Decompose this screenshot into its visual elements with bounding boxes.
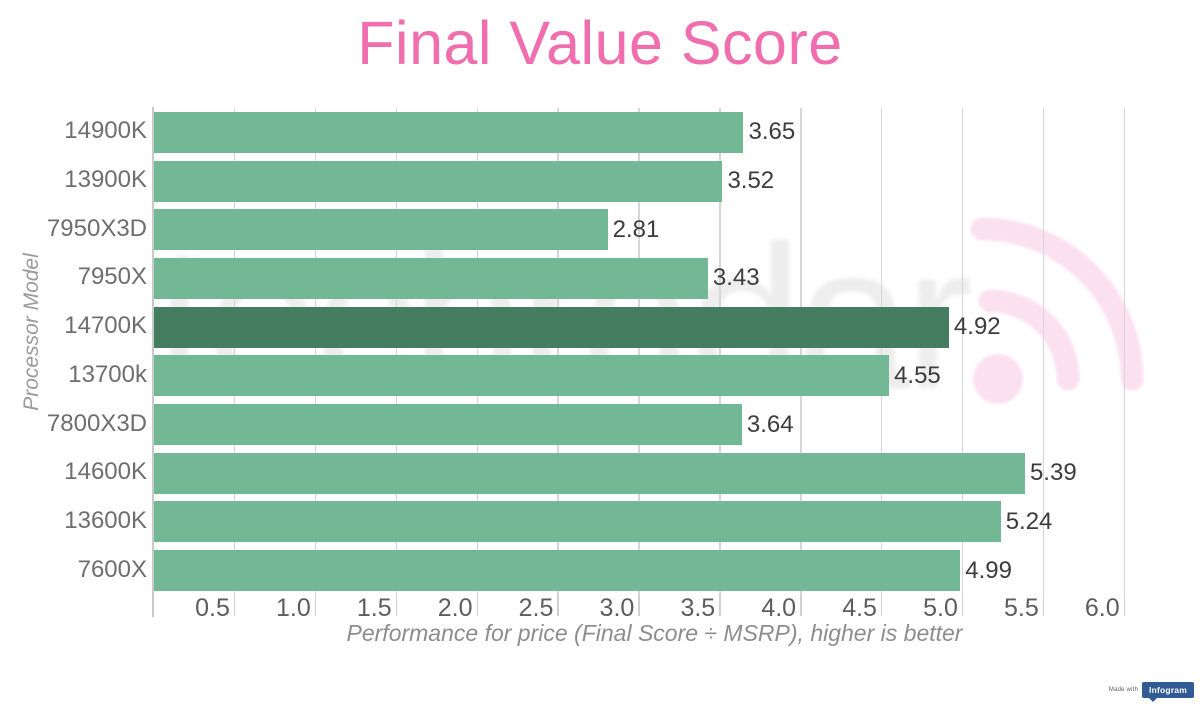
x-axis-tick [962,595,964,616]
x-axis-tick-label: 3.0 [564,594,634,623]
y-axis-line [152,107,154,617]
bar-row[interactable] [153,501,1001,542]
y-axis-category-label: 13900K [0,166,147,194]
y-axis-category-label: 14900K [0,117,147,145]
bar-value-label: 5.24 [1006,508,1053,536]
x-axis-tick [234,595,236,616]
y-axis-category-label: 7800X3D [0,410,147,438]
infogram-credit-badge[interactable]: Made with Infogram [1109,682,1194,698]
x-axis-tick [1043,595,1045,616]
bar-row[interactable] [153,307,949,348]
x-axis-tick-label: 0.5 [160,594,230,623]
y-axis-category-label: 14600K [0,458,147,486]
bar[interactable] [153,112,743,153]
bar-value-label: 4.99 [965,557,1012,585]
y-axis-category-label: 7950X3D [0,215,147,243]
bar-row[interactable] [153,209,608,250]
page-title: Final Value Score [0,8,1200,78]
x-axis-tick-label: 4.5 [807,594,877,623]
bar-value-label: 5.39 [1030,459,1077,487]
bar-highlighted[interactable] [153,307,949,348]
bar-row[interactable] [153,550,960,591]
bar[interactable] [153,404,742,445]
bar-row[interactable] [153,112,743,153]
x-axis-title: Performance for price (Final Score ÷ MSR… [153,620,1156,647]
x-axis-tick [800,595,802,616]
y-axis-category-label: 7600X [0,556,147,584]
y-axis-category-label: 14700K [0,312,147,340]
bar-row[interactable] [153,355,889,396]
x-axis-tick [638,595,640,616]
x-axis-tick [557,595,559,616]
bar-value-label: 3.64 [747,411,794,439]
x-axis-tick [881,595,883,616]
x-axis-tick-label: 2.0 [403,594,473,623]
bar[interactable] [153,355,889,396]
bar[interactable] [153,453,1025,494]
bar-row[interactable] [153,453,1025,494]
x-axis-tick-label: 1.0 [241,594,311,623]
bar[interactable] [153,209,608,250]
bar[interactable] [153,550,960,591]
x-axis-tick [1124,595,1126,616]
credit-brand-label: Infogram [1142,682,1194,698]
bar-value-label: 4.92 [954,313,1001,341]
y-axis-category-label: 13700k [0,361,147,389]
bar-value-label: 3.52 [727,167,774,195]
x-axis-tick-label: 1.5 [322,594,392,623]
bar-value-label: 4.55 [894,362,941,390]
bar[interactable] [153,501,1001,542]
x-axis-tick-label: 6.0 [1050,594,1120,623]
bar[interactable] [153,258,708,299]
x-axis-tick-label: 5.0 [888,594,958,623]
y-axis-category-label: 7950X [0,263,147,291]
bar-row[interactable] [153,404,742,445]
x-gridline [1124,108,1126,595]
bar-value-label: 2.81 [613,216,660,244]
x-axis-tick-label: 5.5 [969,594,1039,623]
x-axis-tick [315,595,317,616]
y-axis-category-label: 13600K [0,507,147,535]
x-axis-tick [477,595,479,616]
bar-value-label: 3.43 [713,264,760,292]
x-axis-tick-label: 3.5 [645,594,715,623]
bar[interactable] [153,161,722,202]
x-axis-tick [719,595,721,616]
bar-row[interactable] [153,258,708,299]
x-axis-tick-label: 4.0 [726,594,796,623]
chart-canvas: techradar Final Value Score Performance … [0,0,1200,704]
bar-value-label: 3.65 [748,118,795,146]
x-axis-tick [396,595,398,616]
x-axis-tick-label: 2.5 [483,594,553,623]
credit-made-with-label: Made with [1109,687,1138,693]
bar-row[interactable] [153,161,722,202]
